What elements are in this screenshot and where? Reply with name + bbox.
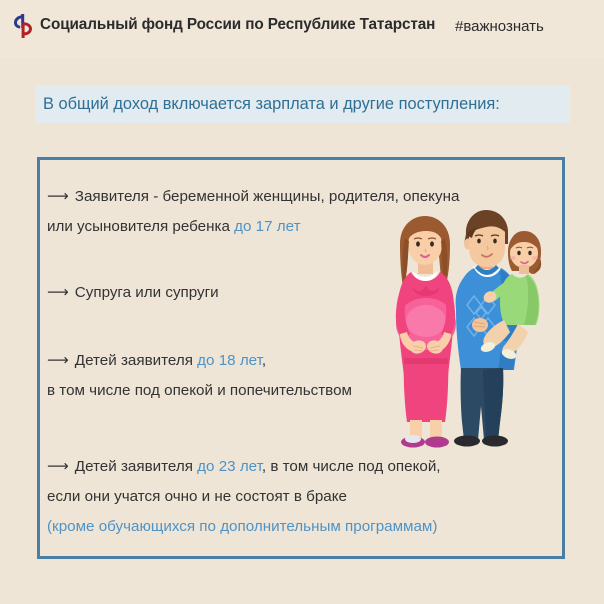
- sfr-logo-icon: [9, 12, 37, 40]
- list-item: ⟶Заявителя - беременной женщины, родител…: [47, 182, 459, 242]
- list-item-line: ⟶Детей заявителя до 18 лет,: [47, 346, 352, 376]
- page-title: Социальный фонд России по Республике Тат…: [40, 16, 435, 34]
- list-container: ⟶Заявителя - беременной женщины, родител…: [47, 168, 567, 553]
- list-item-line: в том числе под опекой и попечительством: [47, 376, 352, 406]
- text-segment: ,: [262, 352, 266, 369]
- hashtag-label: #важнознать: [455, 18, 544, 35]
- list-item-line: (кроме обучающихся по дополнительным про…: [47, 512, 441, 542]
- highlight-segment: (кроме обучающихся по дополнительным про…: [47, 518, 437, 535]
- text-segment: Заявителя - беременной женщины, родителя…: [75, 188, 460, 205]
- arrow-icon: ⟶: [47, 452, 68, 482]
- text-segment: или усыновителя ребенка: [47, 218, 234, 235]
- banner: В общий доход включается зарплата и друг…: [35, 85, 570, 123]
- list-item-line: ⟶Супруга или супруги: [47, 278, 219, 308]
- text-segment: в том числе под опекой и попечительством: [47, 382, 352, 399]
- list-item-line: ⟶Детей заявителя до 23 лет, в том числе …: [47, 452, 441, 482]
- text-segment: Супруга или супруги: [75, 284, 219, 301]
- list-item: ⟶Супруга или супруги: [47, 278, 219, 308]
- list-item-line: или усыновителя ребенка до 17 лет: [47, 212, 459, 242]
- arrow-icon: ⟶: [47, 182, 68, 212]
- banner-text: В общий доход включается зарплата и друг…: [35, 95, 500, 114]
- list-item-line: если они учатся очно и не состоят в брак…: [47, 482, 441, 512]
- text-segment: если они учатся очно и не состоят в брак…: [47, 488, 347, 505]
- list-item-line: ⟶Заявителя - беременной женщины, родител…: [47, 182, 459, 212]
- text-segment: , в том числе под опекой,: [262, 458, 441, 475]
- text-segment: Детей заявителя: [75, 458, 197, 475]
- list-item: ⟶Детей заявителя до 23 лет, в том числе …: [47, 452, 441, 542]
- infographic-page: Социальный фонд России по Республике Тат…: [0, 0, 604, 604]
- highlight-segment: до 23 лет: [197, 458, 262, 475]
- arrow-icon: ⟶: [47, 278, 68, 308]
- highlight-segment: до 17 лет: [234, 218, 300, 235]
- list-item: ⟶Детей заявителя до 18 лет, в том числе …: [47, 346, 352, 406]
- arrow-icon: ⟶: [47, 346, 68, 376]
- text-segment: Детей заявителя: [75, 352, 197, 369]
- header-bar: Социальный фонд России по Республике Тат…: [0, 0, 604, 58]
- highlight-segment: до 18 лет: [197, 352, 262, 369]
